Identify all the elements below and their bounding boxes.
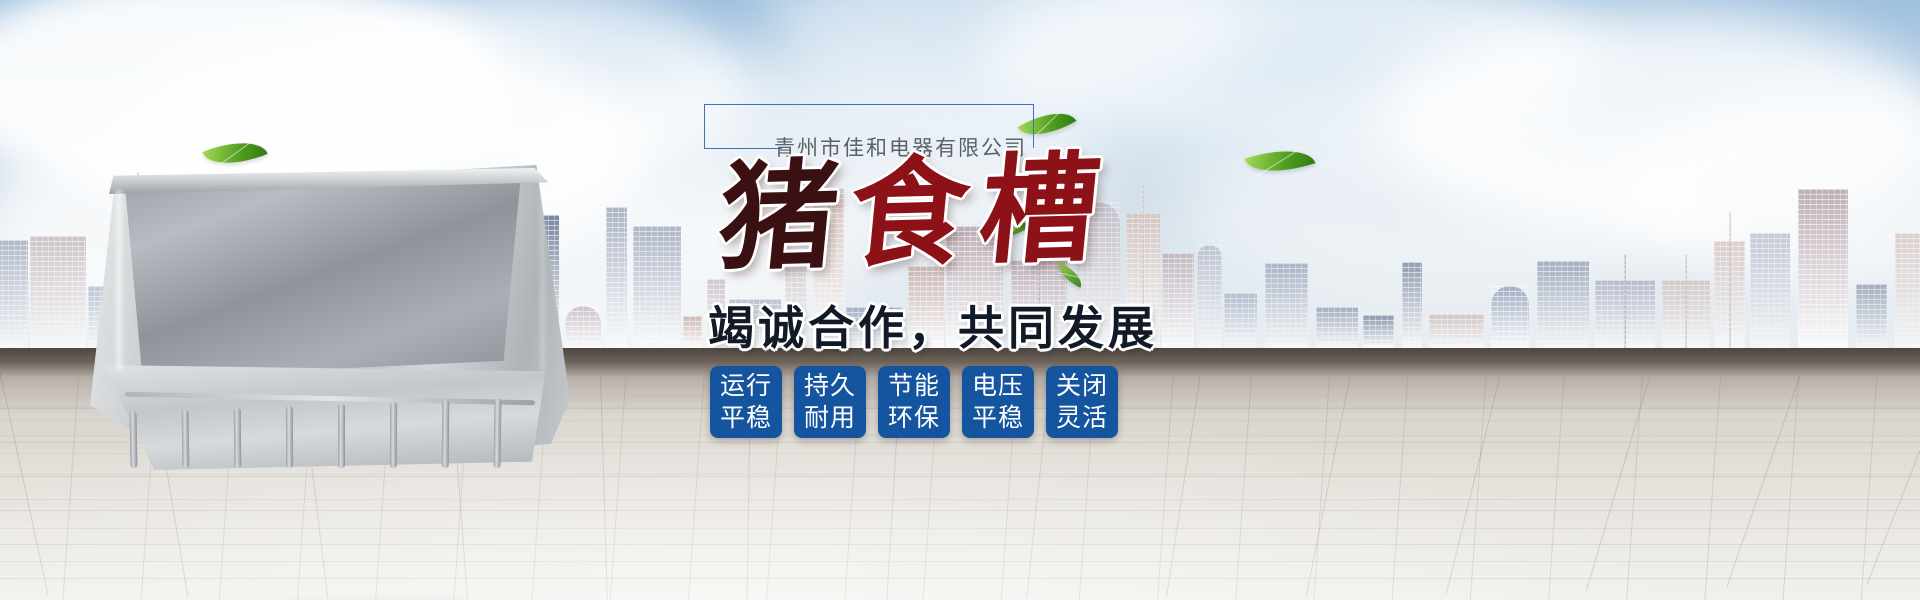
feeder-divider xyxy=(338,404,345,468)
feature-badge-1[interactable]: 运行平稳 xyxy=(710,366,782,438)
main-title-char-3: 槽 xyxy=(974,138,1118,280)
feeder-divider xyxy=(390,402,397,468)
feeder-divider xyxy=(234,408,242,468)
feeder-divider xyxy=(286,406,293,468)
skyline-building xyxy=(1363,315,1394,348)
feature-badge-line2: 灵活 xyxy=(1056,402,1108,434)
main-title: 猪食槽 xyxy=(714,149,1117,277)
feeder-divider xyxy=(442,400,450,468)
skyline-antenna xyxy=(1685,254,1687,348)
skyline-building xyxy=(1491,286,1529,348)
skyline-building xyxy=(0,240,28,348)
feature-badge-line2: 耐用 xyxy=(804,402,856,434)
feature-badge-line1: 持久 xyxy=(804,370,856,402)
feature-badge-line2: 平稳 xyxy=(720,402,772,434)
feeder-highlight xyxy=(540,180,545,370)
skyline-building xyxy=(633,226,681,348)
skyline-building xyxy=(1856,284,1887,348)
skyline-building xyxy=(606,207,627,348)
skyline-building xyxy=(1402,262,1422,348)
feeder-dividers xyxy=(130,388,530,468)
feature-badge-2[interactable]: 持久耐用 xyxy=(794,366,866,438)
promo-banner: 青州市佳和电器有限公司 猪食槽 竭诚合作，共同发展 运行平稳持久耐用节能环保电压… xyxy=(0,0,1920,600)
main-title-char-2: 食 xyxy=(843,141,987,283)
feeder-divider xyxy=(494,398,502,468)
feature-badge-line1: 节能 xyxy=(888,370,940,402)
feeder-highlight xyxy=(116,190,122,370)
skyline-building xyxy=(1895,233,1920,348)
feeder-divider xyxy=(182,410,190,468)
tagline: 竭诚合作，共同发展 xyxy=(708,292,1158,358)
feature-badge-list: 运行平稳持久耐用节能环保电压平稳关闭灵活 xyxy=(710,366,1118,438)
product-image-pig-feeder xyxy=(70,150,590,480)
skyline-building xyxy=(1429,314,1484,348)
banner-text-block: 青州市佳和电器有限公司 猪食槽 竭诚合作，共同发展 运行平稳持久耐用节能环保电压… xyxy=(690,96,1310,516)
feature-badge-4[interactable]: 电压平稳 xyxy=(962,366,1034,438)
skyline-building xyxy=(1316,307,1358,348)
skyline-antenna xyxy=(1729,212,1731,348)
feature-badge-line1: 电压 xyxy=(972,370,1024,402)
skyline-building xyxy=(1798,189,1848,348)
main-title-char-1: 猪 xyxy=(713,145,857,287)
feature-badge-3[interactable]: 节能环保 xyxy=(878,366,950,438)
feature-badge-5[interactable]: 关闭灵活 xyxy=(1046,366,1118,438)
feature-badge-line2: 环保 xyxy=(888,402,940,434)
skyline-antenna xyxy=(1624,254,1626,348)
feeder-divider xyxy=(130,412,138,468)
feature-badge-line1: 运行 xyxy=(720,370,772,402)
feeder-inner-basin xyxy=(108,176,538,386)
skyline-building xyxy=(1750,233,1790,348)
skyline-building xyxy=(1537,261,1589,348)
feature-badge-line2: 平稳 xyxy=(972,402,1024,434)
feature-badge-line1: 关闭 xyxy=(1056,370,1108,402)
